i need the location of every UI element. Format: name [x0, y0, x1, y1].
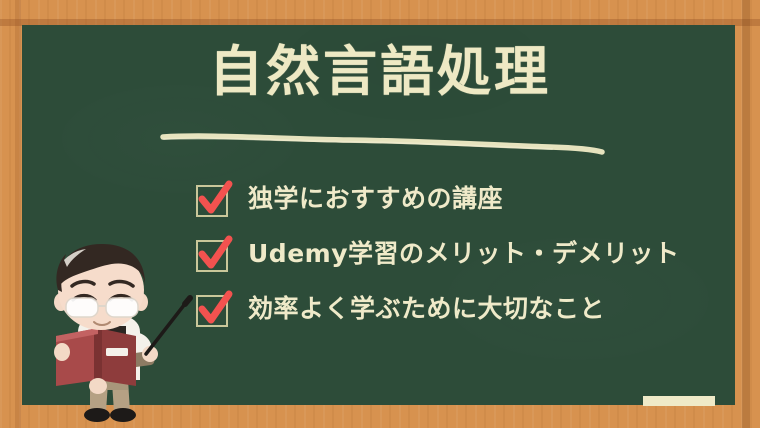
list-item-label: Udemy学習のメリット・デメリット	[248, 237, 680, 271]
checklist: 独学におすすめの講座 Udemy学習のメリット・デメリット 効率よく学ぶために大…	[196, 182, 666, 347]
list-item[interactable]: Udemy学習のメリット・デメリット	[196, 237, 666, 292]
checkbox[interactable]	[196, 185, 228, 217]
list-item[interactable]: 独学におすすめの講座	[196, 182, 666, 237]
teacher-character	[28, 240, 203, 428]
blackboard-slide: 自然言語処理 独学におすすめの講座 Udemy学習のメリット・デメリット	[0, 0, 760, 428]
chalk-underline	[140, 126, 620, 162]
chalk-tray-eraser	[643, 396, 715, 406]
check-icon	[195, 179, 235, 221]
page-title: 自然言語処理	[0, 44, 760, 101]
list-item[interactable]: 効率よく学ぶために大切なこと	[196, 292, 666, 347]
list-item-label: 独学におすすめの講座	[248, 182, 503, 216]
list-item-label: 効率よく学ぶために大切なこと	[248, 292, 605, 326]
